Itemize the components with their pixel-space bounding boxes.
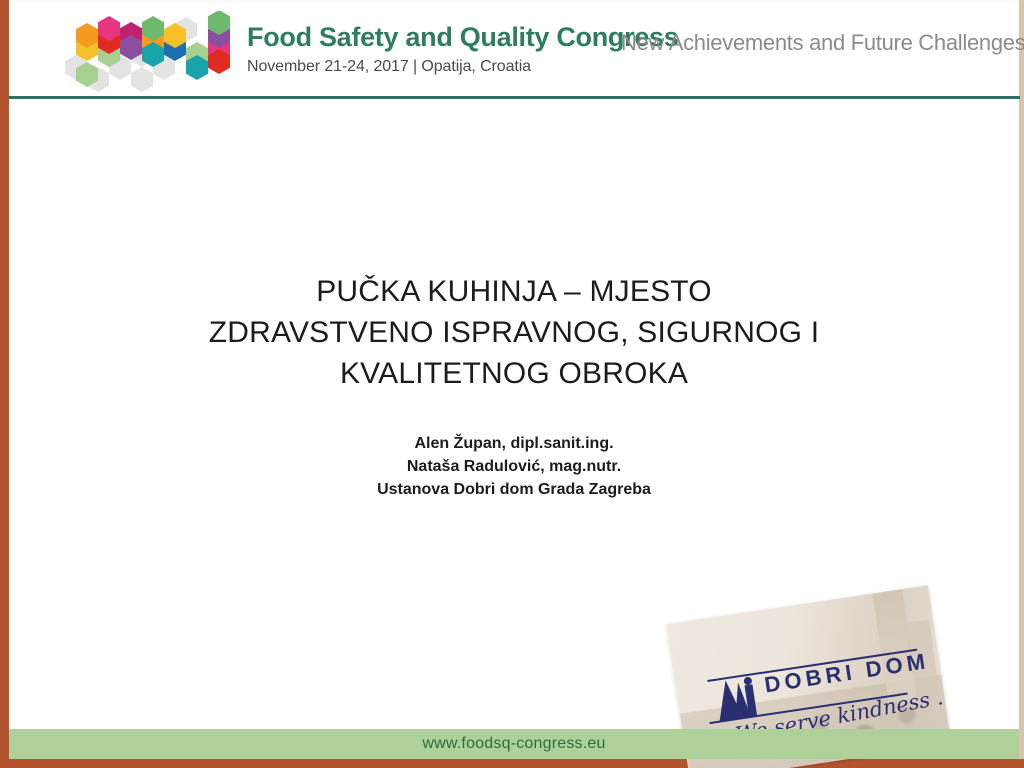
congress-date-location: November 21-24, 2017 | Opatija, Croatia: [247, 58, 607, 76]
presentation-slide: Food Safety and Quality Congress Novembe…: [0, 0, 1024, 768]
affiliation-line: Ustanova Dobri dom Grada Zagreba: [9, 478, 1019, 501]
slide-header: Food Safety and Quality Congress Novembe…: [9, 3, 1019, 97]
congress-website-url[interactable]: www.foodsq-congress.eu: [422, 735, 605, 753]
author-block: Alen Župan, dipl.sanit.ing. Nataša Radul…: [9, 432, 1019, 502]
slide-footer: www.foodsq-congress.eu: [9, 729, 1019, 759]
page-title: PUČKA KUHINJA – MJESTO ZDRAVSTVENO ISPRA…: [9, 271, 1019, 394]
page-title-line-1: PUČKA KUHINJA – MJESTO: [9, 271, 1019, 312]
dobri-dom-figures-icon: [711, 670, 764, 724]
slide-border-bottom: [0, 759, 1024, 768]
congress-title-block: Food Safety and Quality Congress Novembe…: [247, 23, 607, 76]
page-title-line-3: KVALITETNOG OBROKA: [9, 353, 1019, 394]
slide-body: PUČKA KUHINJA – MJESTO ZDRAVSTVENO ISPRA…: [9, 99, 1019, 730]
congress-name: Food Safety and Quality Congress: [247, 23, 607, 51]
slide-border-left: [0, 0, 9, 768]
congress-tagline: New Achievements and Future Challenges: [621, 30, 1024, 56]
author-line-2: Nataša Radulović, mag.nutr.: [9, 455, 1019, 478]
author-line-1: Alen Župan, dipl.sanit.ing.: [9, 432, 1019, 455]
congress-hexagon-logo: [57, 11, 237, 93]
page-title-line-2: ZDRAVSTVENO ISPRAVNOG, SIGURNOG I: [9, 312, 1019, 353]
slide-border-right: [1019, 0, 1024, 768]
